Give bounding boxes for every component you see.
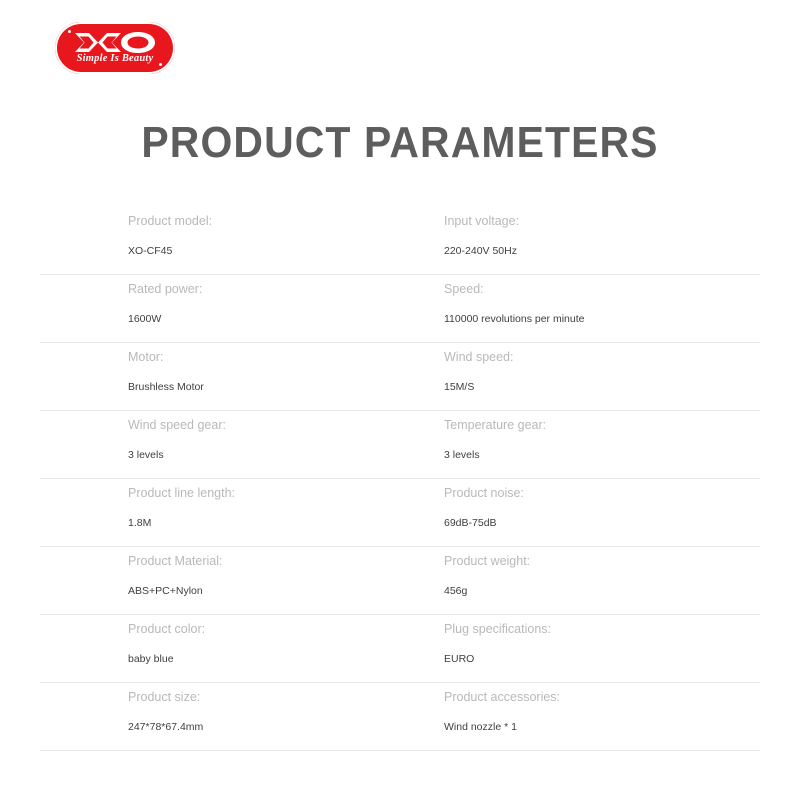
spec-label: Wind speed gear: xyxy=(128,419,418,432)
spec-cell-left: Product color: baby blue xyxy=(40,615,418,682)
spec-cell-left: Product line length: 1.8M xyxy=(40,479,418,546)
spec-value: 456g xyxy=(444,586,760,597)
spec-value: 15M/S xyxy=(444,382,760,393)
spec-label: Temperature gear: xyxy=(444,419,760,432)
spec-cell-right: Input voltage: 220-240V 50Hz xyxy=(418,207,760,274)
brand-logo: Simple Is Beauty xyxy=(55,22,175,74)
table-row: Product Material: ABS+PC+Nylon Product w… xyxy=(40,547,760,615)
table-row: Motor: Brushless Motor Wind speed: 15M/S xyxy=(40,343,760,411)
spec-label: Plug specifications: xyxy=(444,623,760,636)
spec-value: 1600W xyxy=(128,314,418,325)
spec-value: 3 levels xyxy=(444,450,760,461)
spec-value: 220-240V 50Hz xyxy=(444,246,760,257)
spec-value: 3 levels xyxy=(128,450,418,461)
spec-value: 69dB-75dB xyxy=(444,518,760,529)
page-title: PRODUCT PARAMETERS xyxy=(28,118,772,168)
spec-cell-left: Motor: Brushless Motor xyxy=(40,343,418,410)
spec-label: Product Material: xyxy=(128,555,418,568)
spec-cell-right: Wind speed: 15M/S xyxy=(418,343,760,410)
spec-cell-right: Temperature gear: 3 levels xyxy=(418,411,760,478)
spec-cell-left: Wind speed gear: 3 levels xyxy=(40,411,418,478)
spec-value: 247*78*67.4mm xyxy=(128,722,418,733)
xo-wordmark-icon xyxy=(72,30,158,55)
spec-label: Product color: xyxy=(128,623,418,636)
product-parameters-table: Product model: XO-CF45 Input voltage: 22… xyxy=(40,207,760,751)
spec-label: Motor: xyxy=(128,351,418,364)
spec-label: Speed: xyxy=(444,283,760,296)
spec-cell-right: Speed: 110000 revolutions per minute xyxy=(418,275,760,342)
spec-label: Product accessories: xyxy=(444,691,760,704)
table-row: Product size: 247*78*67.4mm Product acce… xyxy=(40,683,760,751)
spec-label: Rated power: xyxy=(128,283,418,296)
table-row: Rated power: 1600W Speed: 110000 revolut… xyxy=(40,275,760,343)
spec-cell-right: Product weight: 456g xyxy=(418,547,760,614)
spec-value: Brushless Motor xyxy=(128,382,418,393)
table-row: Wind speed gear: 3 levels Temperature ge… xyxy=(40,411,760,479)
spec-value: XO-CF45 xyxy=(128,246,418,257)
spec-cell-left: Product Material: ABS+PC+Nylon xyxy=(40,547,418,614)
spec-label: Input voltage: xyxy=(444,215,760,228)
spec-value: ABS+PC+Nylon xyxy=(128,586,418,597)
table-row: Product color: baby blue Plug specificat… xyxy=(40,615,760,683)
spec-label: Product noise: xyxy=(444,487,760,500)
logo-dot-top-left xyxy=(68,30,71,33)
table-row: Product model: XO-CF45 Input voltage: 22… xyxy=(40,207,760,275)
spec-label: Product size: xyxy=(128,691,418,704)
logo-tagline: Simple Is Beauty xyxy=(55,53,175,64)
spec-label: Product model: xyxy=(128,215,418,228)
spec-cell-right: Product accessories: Wind nozzle * 1 xyxy=(418,683,760,750)
spec-cell-left: Product size: 247*78*67.4mm xyxy=(40,683,418,750)
spec-cell-right: Plug specifications: EURO xyxy=(418,615,760,682)
spec-value: baby blue xyxy=(128,654,418,665)
spec-cell-left: Product model: XO-CF45 xyxy=(40,207,418,274)
spec-label: Wind speed: xyxy=(444,351,760,364)
spec-value: 110000 revolutions per minute xyxy=(444,314,760,325)
spec-label: Product line length: xyxy=(128,487,418,500)
spec-value: Wind nozzle * 1 xyxy=(444,722,760,733)
spec-label: Product weight: xyxy=(444,555,760,568)
table-row: Product line length: 1.8M Product noise:… xyxy=(40,479,760,547)
spec-value: EURO xyxy=(444,654,760,665)
spec-value: 1.8M xyxy=(128,518,418,529)
spec-cell-right: Product noise: 69dB-75dB xyxy=(418,479,760,546)
spec-cell-left: Rated power: 1600W xyxy=(40,275,418,342)
